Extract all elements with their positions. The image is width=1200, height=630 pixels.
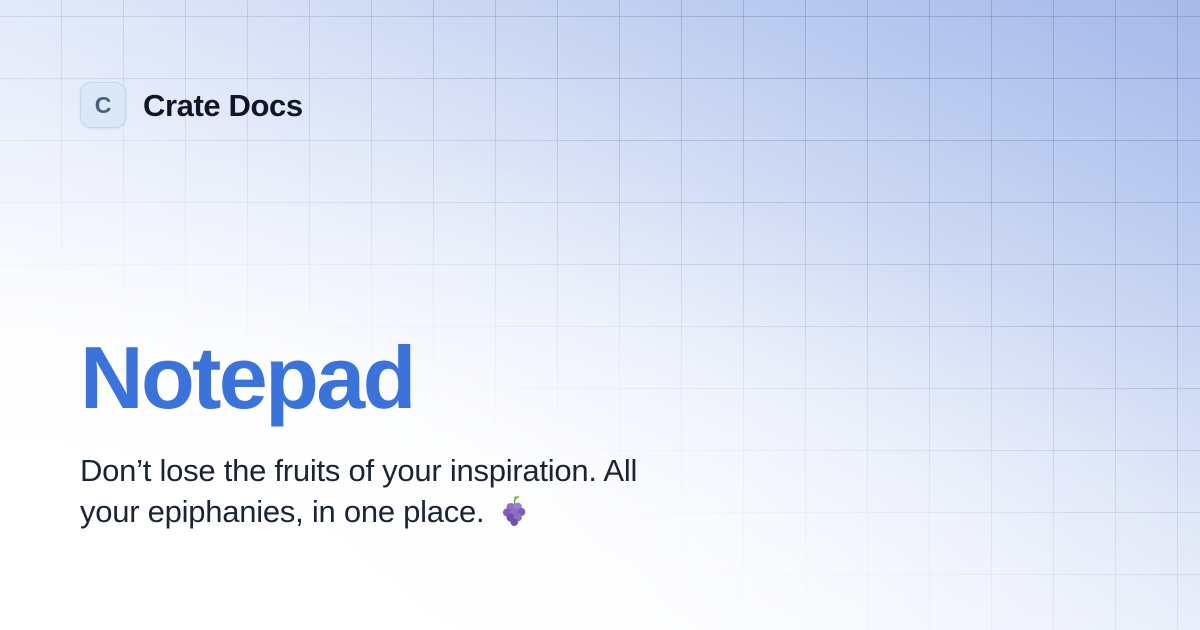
grapes-emoji [497,494,531,528]
subtitle-line-1: Don’t lose the fruits of your inspiratio… [80,453,637,488]
logo-letter: C [95,94,112,117]
crate-docs-logo-icon: C [80,82,126,128]
subtitle-line-2: your epiphanies, in one place. [80,494,484,529]
card-content: C Crate Docs Notepad Don’t lose the frui… [0,0,1200,630]
brand-lockup: C Crate Docs [80,82,303,128]
brand-name: Crate Docs [143,90,303,121]
page-title: Notepad [80,334,940,422]
og-card: C Crate Docs Notepad Don’t lose the frui… [0,0,1200,630]
page-subtitle: Don’t lose the fruits of your inspiratio… [80,450,820,532]
hero-block: Notepad Don’t lose the fruits of your in… [80,334,940,532]
